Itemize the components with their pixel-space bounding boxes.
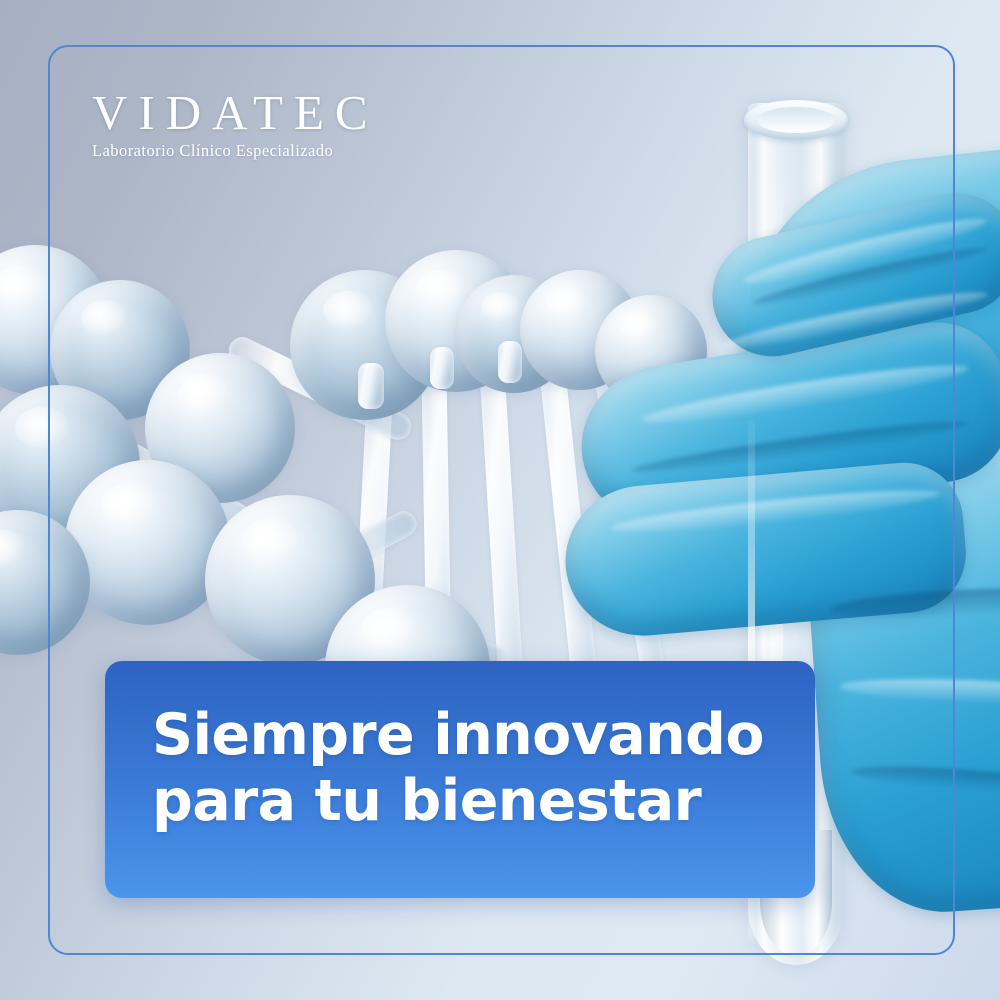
headline-banner: Siempre innovando para tu bienestar (105, 661, 815, 898)
brand-name: VIDATEC (92, 88, 379, 138)
headline-line-2: para tu bienestar (152, 768, 792, 834)
poster-canvas: VIDATEC Laboratorio Clínico Especializad… (0, 0, 1000, 1000)
brand-tagline: Laboratorio Clínico Especializado (92, 141, 379, 161)
headline-line-1: Siempre innovando (152, 702, 792, 768)
brand-logo: VIDATEC Laboratorio Clínico Especializad… (92, 88, 379, 161)
headline-text: Siempre innovando para tu bienestar (152, 702, 792, 834)
